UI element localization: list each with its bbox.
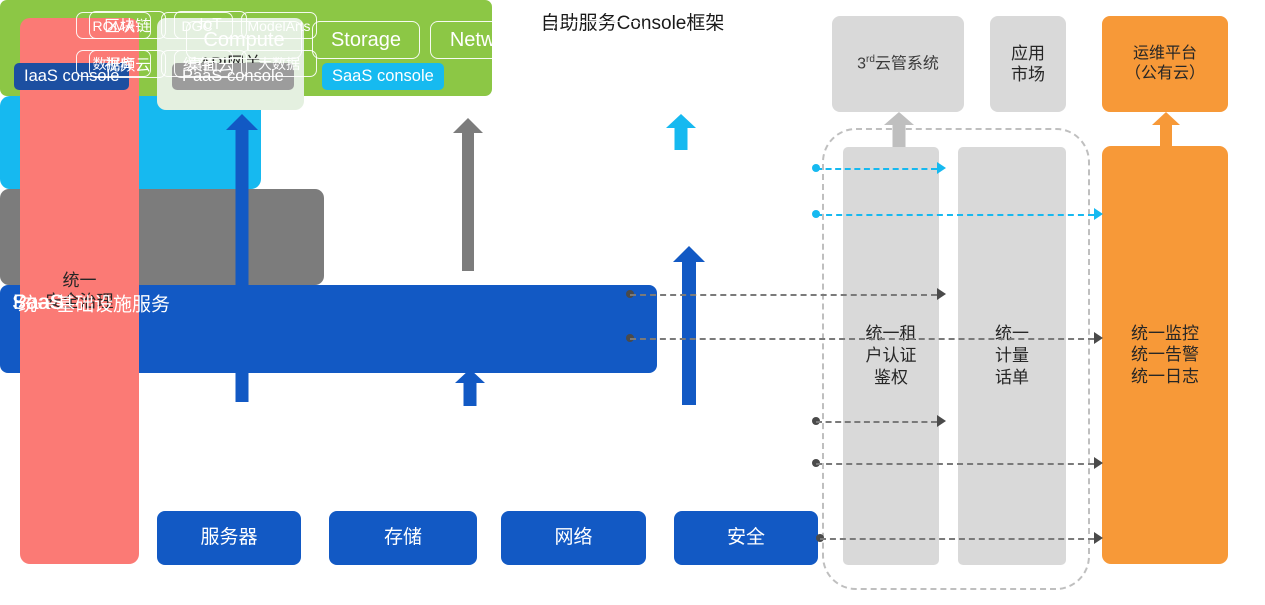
bottom-box-security: 安全 — [674, 511, 818, 565]
connector-infra-to-auth — [816, 421, 937, 423]
third-party-cloud-management-box: 3rd云管系统 — [832, 16, 964, 112]
bottom-box-network: 网络 — [501, 511, 646, 565]
unified-tenant-auth-column: 统一租 户认证 鉴权 — [843, 147, 939, 565]
arrow-up-zone-to-third-party-icon — [884, 112, 914, 146]
third-party-cloud-label: 3rd云管系统 — [857, 54, 939, 74]
unified-monitoring-rail: 统一监控 统一告警 统一日志 — [1102, 146, 1228, 564]
arrow-up-infra-to-paas-icon — [455, 369, 485, 405]
paas-chip-database[interactable]: 数据库 — [76, 50, 151, 77]
arrow-up-infra-to-api-gateway-icon — [226, 114, 258, 402]
infra-chip-network[interactable]: Network — [430, 21, 543, 59]
application-market-label: 应用 市场 — [1011, 43, 1045, 86]
ops-platform-box: 运维平台 （公有云） — [1102, 16, 1228, 112]
architecture-diagram: 统一 安全治理 API网关 自助服务Console框架 IaaS console… — [0, 0, 1265, 605]
unified-tenant-auth-label: 统一租 户认证 鉴权 — [866, 323, 917, 389]
arrow-up-infra-to-saas-icon — [673, 246, 705, 404]
paas-chip-roma[interactable]: ROMA — [76, 12, 151, 39]
bottom-box-server: 服务器 — [157, 511, 301, 565]
infra-chip-cce[interactable]: CCE — [553, 21, 643, 59]
connector-arrowhead-paas-ops-icon — [1094, 332, 1103, 344]
unified-metering-column: 统一 计量 话单 — [958, 147, 1066, 565]
infra-chip-compute[interactable]: Compute — [186, 21, 302, 59]
arrow-up-rail-to-ops-icon — [1152, 112, 1180, 147]
connector-arrowhead-infra-ops-icon — [1094, 457, 1103, 469]
connector-security-to-ops — [820, 538, 1094, 540]
saas-console-pill[interactable]: SaaS console — [322, 63, 444, 90]
connector-infra-to-ops — [816, 463, 1094, 465]
connector-arrowhead-infra-auth-icon — [937, 415, 946, 427]
connector-saas-to-ops — [816, 214, 1094, 216]
connector-arrowhead-saas-auth-icon — [937, 162, 946, 174]
bottom-box-storage: 存储 — [329, 511, 477, 565]
unified-infrastructure-label: 统一基础设施服务 — [18, 289, 170, 316]
application-market-box: 应用 市场 — [990, 16, 1066, 112]
unified-metering-label: 统一 计量 话单 — [995, 323, 1029, 389]
connector-saas-to-auth — [816, 168, 937, 170]
arrow-up-saas-to-console-icon — [666, 114, 696, 149]
ops-platform-label: 运维平台 （公有云） — [1125, 44, 1205, 84]
infra-chip-storage[interactable]: Storage — [312, 21, 420, 59]
unified-monitoring-label: 统一监控 统一告警 统一日志 — [1131, 323, 1199, 387]
connector-arrowhead-paas-auth-icon — [937, 288, 946, 300]
connector-paas-to-ops — [630, 338, 1094, 340]
connector-paas-to-auth — [630, 294, 937, 296]
connector-arrowhead-saas-ops-icon — [1094, 208, 1103, 220]
arrow-up-paas-to-console-icon — [453, 118, 483, 270]
connector-arrowhead-security-ops-icon — [1094, 532, 1103, 544]
